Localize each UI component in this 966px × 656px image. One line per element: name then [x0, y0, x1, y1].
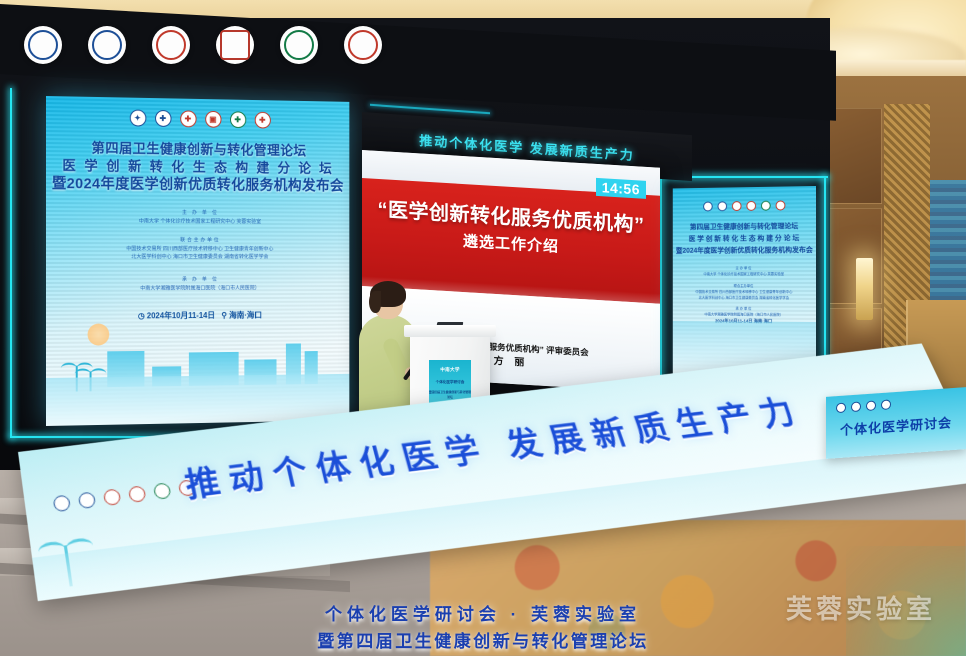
slide-clock: 14:56	[596, 178, 646, 199]
podium-top-surface	[404, 325, 496, 337]
emblem-medical-institute-red	[866, 400, 876, 411]
emblem-peking-university-gate	[746, 201, 756, 211]
right-screen-cohost-body-1: 中国技术交易所 四川西部医疗技术转移中心 卫生健康青年创新中心	[673, 290, 816, 296]
side-stage-banner: 个体化医学研讨会	[826, 387, 966, 459]
caption-line-2: 暨第四届卫生健康创新与转化管理论坛	[0, 627, 966, 652]
organizer-label: 承 办 单 位	[46, 275, 349, 283]
side-banner-text: 个体化医学研讨会	[826, 411, 966, 440]
emblem-xiangya-medical-college: ✚	[155, 110, 171, 127]
neon-accent-line	[10, 88, 12, 438]
right-screen-cohost-body-2: 北大医学科创中心 海口市卫生健康委员会 湖南省转化医学学会	[673, 296, 816, 302]
sun-graphic	[88, 324, 110, 346]
left-screen-title-line3: 暨2024年度医学创新优质转化服务机构发布会	[46, 172, 349, 195]
emblem-central-south-university: ✦	[129, 109, 146, 126]
emblem-xiangya-medical-college	[78, 492, 97, 510]
host-body: 中南大学 个体化诊疗技术国家工程研究中心 芙蓉实验室	[46, 217, 349, 226]
neon-accent-line	[660, 176, 662, 388]
emblem-xiangya-medical-college	[88, 26, 126, 64]
emblem-health-commission-green	[760, 201, 770, 211]
cohost-label: 联合主办单位	[46, 236, 349, 244]
emblem-medical-institute-red	[731, 201, 741, 211]
emblem-medical-institute-red	[103, 488, 122, 506]
emblem-central-south-university	[836, 402, 846, 413]
emblem-health-commission-green	[280, 26, 318, 64]
emblem-hainan-hospital-red	[344, 26, 382, 64]
side-banner-logo-row	[836, 399, 891, 413]
right-screen-title-line3: 暨2024年度医学创新优质转化服务机构发布会	[673, 246, 816, 257]
right-screen-cohost-label: 联合主办单位	[673, 284, 816, 290]
caption-line-1: 个体化医学研讨会 · 芙蓉实验室	[0, 600, 966, 625]
left-screen-cohost-block: 联合主办单位 中国技术交易所 四川西部医疗技术转移中心 卫生健康青年创新中心 北…	[46, 236, 349, 261]
partner-emblem-row	[24, 26, 382, 64]
emblem-medical-institute-red	[152, 26, 190, 64]
host-label: 主 办 单 位	[46, 208, 349, 217]
emblem-peking-university-gate	[216, 26, 254, 64]
emblem-health-commission-green	[881, 399, 891, 410]
emblem-peking-university-gate: ▣	[205, 111, 221, 128]
left-screen-organizer-block: 承 办 单 位 中南大学湘雅医学院附属海口医院（海口市人民医院）	[46, 275, 349, 292]
right-screen-title-line1: 第四届卫生健康创新与转化管理论坛	[673, 222, 816, 233]
right-screen-host-body: 中南大学 个体化诊疗技术国家工程研究中心 芙蓉实验室	[673, 272, 816, 278]
emblem-central-south-university	[703, 202, 713, 212]
bottom-caption-overlay: 个体化医学研讨会 · 芙蓉实验室 暨第四届卫生健康创新与转化管理论坛	[0, 600, 966, 652]
emblem-central-south-university	[24, 26, 62, 64]
emblem-health-commission-green: ✚	[230, 111, 246, 128]
emblem-central-south-university	[53, 495, 71, 513]
right-screen-logo-row	[673, 200, 816, 212]
left-screen-host-block: 主 办 单 位 中南大学 个体化诊疗技术国家工程研究中心 芙蓉实验室	[46, 208, 349, 226]
right-screen-host-label: 主 办 单 位	[673, 266, 816, 272]
emblem-xiangya-medical-college	[851, 401, 861, 412]
right-screen-title-line2: 医 学 创 新 转 化 生 态 构 建 分 论 坛	[673, 234, 816, 245]
emblem-hainan-hospital-red: ✚	[254, 112, 270, 129]
right-led-screen: 第四届卫生健康创新与转化管理论坛 医 学 创 新 转 化 生 态 构 建 分 论…	[673, 186, 816, 382]
banner-logo-row	[53, 479, 197, 512]
left-screen-cityscape-graphic	[46, 312, 349, 426]
emblem-peking-university-gate	[128, 485, 147, 503]
organizer-body: 中南大学湘雅医学院附属海口医院（海口市人民医院）	[46, 284, 349, 293]
cohost-body-2: 北大医学科创中心 海口市卫生健康委员会 湖南省转化医学学会	[46, 253, 349, 261]
left-led-screen: ✦ ✚ ✚ ▣ ✚ ✚ 第四届卫生健康创新与转化管理论坛 医 学 创 新 转 化…	[46, 96, 349, 426]
crystal-sconce-light	[856, 258, 873, 320]
emblem-hainan-hospital-red	[775, 200, 785, 210]
podium-logo-text: 中南大学	[429, 367, 471, 373]
conference-stage-photo: ✦ ✚ ✚ ▣ ✚ ✚ 第四届卫生健康创新与转化管理论坛 医 学 创 新 转 化…	[0, 0, 966, 656]
speaker-hair-side	[369, 291, 381, 313]
emblem-medical-institute-red: ✚	[180, 110, 196, 127]
emblem-xiangya-medical-college	[717, 201, 727, 211]
podium-title: 个体化医学研讨会	[429, 380, 471, 385]
emblem-health-commission-green	[153, 482, 172, 499]
